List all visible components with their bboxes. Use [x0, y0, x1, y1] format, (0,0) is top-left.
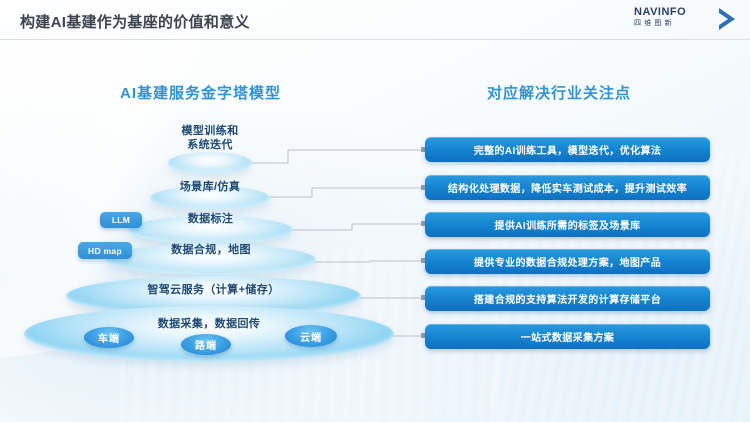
right-column-title: 对应解决行业关注点: [487, 82, 631, 103]
layer-1-label-line-1: 模型训练和: [130, 124, 290, 138]
pyramid-layer-1[interactable]: [168, 152, 252, 174]
focus-box-1[interactable]: 完整的AI训练工具，模型迭代，优化算法: [425, 137, 710, 162]
pyramid-diagram: 模型训练和 系统迭代 场景库/仿真 数据标注 LLM 数据合规，地图 HD ma…: [0, 0, 420, 422]
logo-wordmark: NAVINFO: [634, 7, 686, 18]
pill-cloud-side[interactable]: 云端: [285, 325, 337, 347]
pyramid-layer-5-label: 智驾云服务（计算+储存）: [66, 283, 361, 297]
navinfo-logo: NAVINFO 四维图新: [634, 7, 738, 33]
focus-box-6[interactable]: 一站式数据采集方案: [425, 324, 710, 349]
focus-box-3[interactable]: 提供AI训练所需的标签及场景库: [425, 212, 710, 237]
pyramid-layer-1-label: 模型训练和 系统迭代: [130, 124, 290, 152]
chevron-right-icon: [716, 7, 738, 31]
pyramid-layer-2-label: 场景库/仿真: [150, 180, 270, 194]
pyramid-layer-6-label: 数据采集，数据回传: [24, 317, 394, 331]
slide-canvas: 构建AI基建作为基座的价值和意义 NAVINFO 四维图新 AI基建服务金字塔模…: [0, 0, 750, 422]
layer-1-label-line-2: 系统迭代: [130, 138, 290, 152]
badge-llm[interactable]: LLM: [100, 212, 142, 228]
focus-box-5[interactable]: 搭建合规的支持算法开发的计算存储平台: [425, 286, 710, 311]
focus-box-4[interactable]: 提供专业的数据合规处理方案，地图产品: [425, 249, 710, 274]
pyramid-layer-4-label: 数据合规，地图: [106, 243, 316, 257]
logo-chinese-name: 四维图新: [634, 20, 675, 28]
pill-vehicle-side[interactable]: 车端: [84, 327, 134, 348]
layer-1-ellipse: [168, 152, 252, 174]
pyramid-layer-3-label: 数据标注: [128, 212, 293, 226]
pill-road-side[interactable]: 路端: [181, 334, 231, 355]
focus-box-2[interactable]: 结构化处理数据，降低实车测试成本，提升测试效率: [425, 175, 710, 200]
badge-hd-map[interactable]: HD map: [78, 242, 132, 259]
